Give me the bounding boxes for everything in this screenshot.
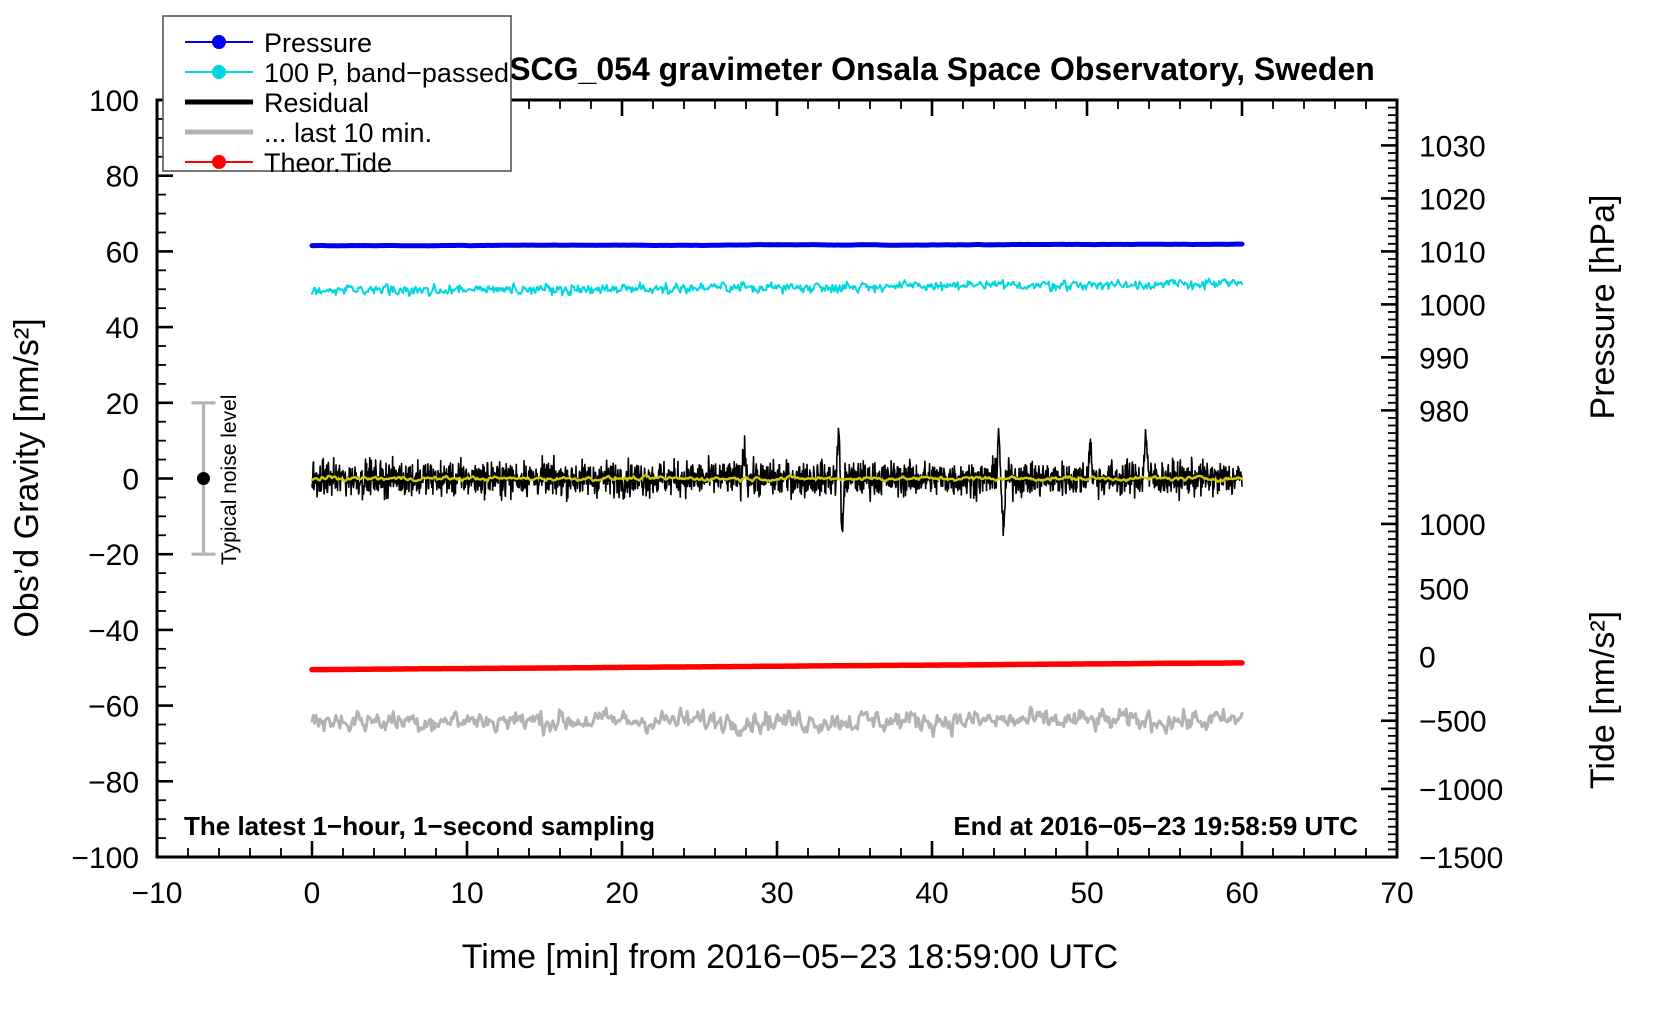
noise-center-dot	[197, 472, 210, 485]
y-tick-label: 80	[106, 161, 139, 194]
y-tick-label: −80	[88, 766, 139, 799]
x-tick-label: −10	[132, 877, 183, 910]
pressure-tick-label: 980	[1419, 395, 1469, 428]
tide-tick-label: 0	[1419, 641, 1436, 674]
y-tick-label: −60	[88, 691, 139, 724]
pressure-tick-label: 1000	[1419, 289, 1486, 322]
y-axis-left-title: Obs’d Gravity [nm/s²]	[8, 318, 46, 637]
tide-tick-label: −1000	[1419, 774, 1503, 807]
pressure-tick-label: 1020	[1419, 183, 1486, 216]
y-tick-label: 40	[106, 312, 139, 345]
x-tick-label: 20	[605, 877, 638, 910]
tide-tick-label: −1500	[1419, 842, 1503, 875]
end-time-annotation: End at 2016−05−23 19:58:59 UTC	[953, 811, 1358, 841]
tide-tick-label: −500	[1419, 706, 1487, 739]
y-tick-label: 60	[106, 236, 139, 269]
legend-label-2: Residual	[264, 88, 369, 118]
x-tick-label: 60	[1225, 877, 1258, 910]
x-tick-label: 50	[1070, 877, 1103, 910]
sampling-annotation: The latest 1−hour, 1−second sampling	[184, 811, 655, 841]
legend: Pressure100 P, band−passedResidual... la…	[163, 16, 511, 178]
x-axis-title: Time [min] from 2016−05−23 18:59:00 UTC	[462, 938, 1118, 976]
tide-tick-label: 1000	[1419, 509, 1486, 542]
x-tick-label: 40	[915, 877, 948, 910]
legend-label-0: Pressure	[264, 28, 372, 58]
legend-label-1: 100 P, band−passed	[264, 58, 509, 88]
trace-pressure	[312, 244, 1242, 246]
legend-marker-4	[212, 155, 226, 169]
y-tick-label: 100	[89, 85, 139, 118]
noise-level-label: Typical noise level	[218, 395, 241, 565]
legend-marker-1	[212, 65, 226, 79]
legend-marker-0	[212, 35, 226, 49]
pressure-axis-title: Pressure [hPa]	[1584, 195, 1622, 420]
x-tick-label: 0	[304, 877, 321, 910]
y-tick-label: 20	[106, 388, 139, 421]
x-tick-label: 70	[1380, 877, 1413, 910]
y-tick-label: −20	[88, 539, 139, 572]
gravimeter-plot-figure: −10010203040506070 100806040200−20−40−60…	[0, 0, 1660, 1020]
tide-axis-title: Tide [nm/s²]	[1584, 611, 1622, 789]
legend-label-4: Theor.Tide	[264, 148, 392, 178]
y-tick-label: −100	[71, 842, 139, 875]
tide-tick-label: 500	[1419, 573, 1469, 606]
y-tick-label: −40	[88, 615, 139, 648]
pressure-tick-label: 1010	[1419, 236, 1486, 269]
chart-canvas: −10010203040506070 100806040200−20−40−60…	[0, 0, 1660, 1020]
x-tick-label: 10	[450, 877, 483, 910]
pressure-tick-label: 990	[1419, 342, 1469, 375]
y-tick-label: 0	[122, 464, 139, 497]
x-tick-label: 30	[760, 877, 793, 910]
pressure-tick-label: 1030	[1419, 130, 1486, 163]
page-title: SCG_054 gravimeter Onsala Space Observat…	[509, 51, 1375, 87]
legend-label-3: ... last 10 min.	[264, 118, 432, 148]
